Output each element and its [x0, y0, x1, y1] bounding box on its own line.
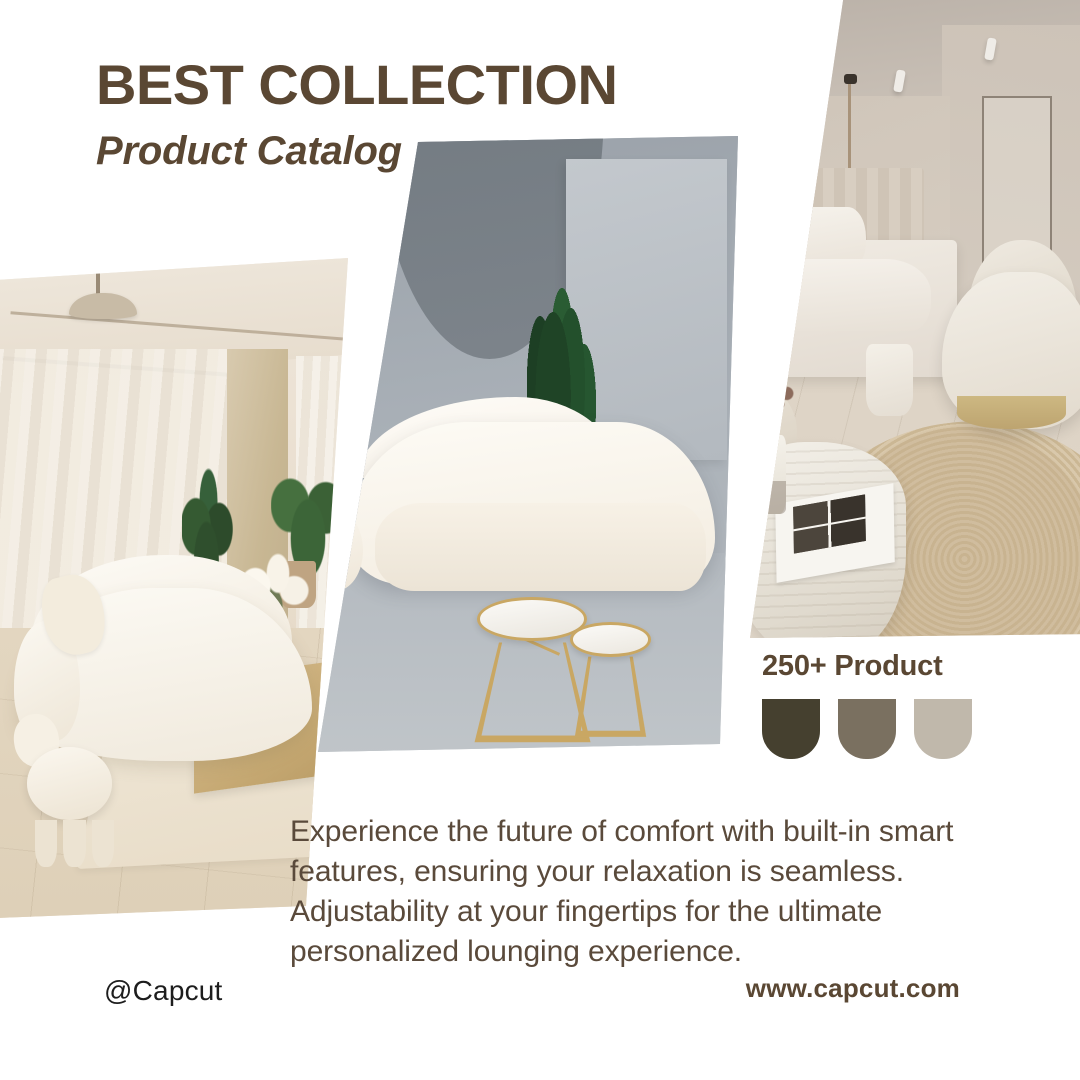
vase-glass-band — [753, 481, 786, 514]
product-count-block: 250+ Product — [762, 650, 972, 759]
chair-gold-base — [957, 396, 1066, 429]
marble-coffee-table-small — [570, 622, 651, 656]
page-subtitle: Product Catalog — [96, 129, 617, 173]
color-swatch-group — [762, 699, 972, 759]
website-url[interactable]: www.capcut.com — [746, 973, 960, 1004]
social-handle: @Capcut — [104, 975, 223, 1007]
sofa-seat-cushion — [375, 503, 706, 591]
stool-leg — [35, 820, 57, 866]
gallery-image-bedroom — [726, 0, 1080, 642]
product-count-label: 250+ Product — [762, 650, 972, 683]
stool-leg — [92, 820, 114, 866]
color-swatch-dark-olive-brown[interactable] — [762, 699, 820, 759]
pendant-rod — [96, 269, 100, 295]
bedroom-scene — [726, 0, 1080, 642]
color-swatch-warm-taupe[interactable] — [838, 699, 896, 759]
bed-duvet — [726, 259, 931, 331]
color-swatch-light-greige[interactable] — [914, 699, 972, 759]
gallery-image-studio-sofa — [318, 136, 738, 758]
dried-twigs — [749, 370, 800, 448]
side-table-stool — [866, 344, 913, 416]
studio-scene — [318, 136, 738, 758]
pendant-base — [844, 74, 857, 84]
description-text: Experience the future of comfort with bu… — [290, 812, 962, 972]
page-title: BEST COLLECTION — [96, 56, 617, 115]
bed-pillows — [735, 207, 866, 266]
header-block: BEST COLLECTION Product Catalog — [96, 56, 617, 173]
stool-leg — [63, 820, 85, 866]
product-catalog-poster: BEST COLLECTION Product Catalog — [0, 0, 1080, 1080]
round-stool — [27, 747, 113, 820]
